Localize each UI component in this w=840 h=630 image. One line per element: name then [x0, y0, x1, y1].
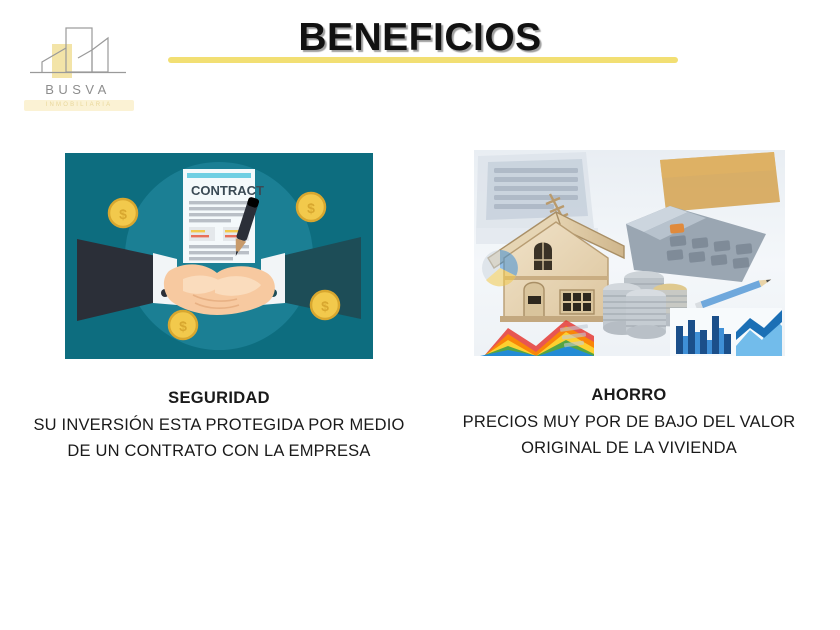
ahorro-caption: AHORRO PRECIOS MUY POR DE BAJO DEL VALOR… — [440, 382, 818, 461]
seguridad-caption-title: SEGURIDAD — [22, 385, 416, 411]
title-underline-rule — [168, 57, 678, 63]
benefit-column-seguridad: CONTRACT — [22, 150, 416, 464]
ahorro-caption-body: PRECIOS MUY POR DE BAJO DEL VALOR ORIGIN… — [440, 409, 818, 461]
benefit-column-ahorro: AHORRO PRECIOS MUY POR DE BAJO DEL VALOR… — [440, 150, 818, 461]
logo-wordmark: BUSVA — [22, 82, 134, 97]
page-title: BENEFICIOS — [200, 16, 640, 60]
seguridad-caption: SEGURIDAD SU INVERSIÓN ESTA PROTEGIDA PO… — [22, 385, 416, 464]
building-logo-icon — [22, 24, 134, 86]
seguridad-caption-body: SU INVERSIÓN ESTA PROTEGIDA POR MEDIO DE… — [22, 412, 416, 464]
svg-text:$: $ — [179, 318, 187, 334]
slide-canvas: BUSVA INMOBILIARIA BENEFICIOS CONTRACT — [0, 0, 840, 630]
svg-text:$: $ — [119, 206, 127, 222]
brand-logo: BUSVA INMOBILIARIA — [22, 24, 134, 110]
seguridad-image: CONTRACT — [65, 153, 373, 359]
svg-text:CONTRACT: CONTRACT — [191, 183, 264, 198]
ahorro-caption-title: AHORRO — [440, 382, 818, 408]
logo-tagline: INMOBILIARIA — [24, 100, 134, 111]
svg-text:$: $ — [321, 298, 329, 314]
svg-text:$: $ — [307, 200, 315, 216]
ahorro-image — [474, 150, 785, 356]
